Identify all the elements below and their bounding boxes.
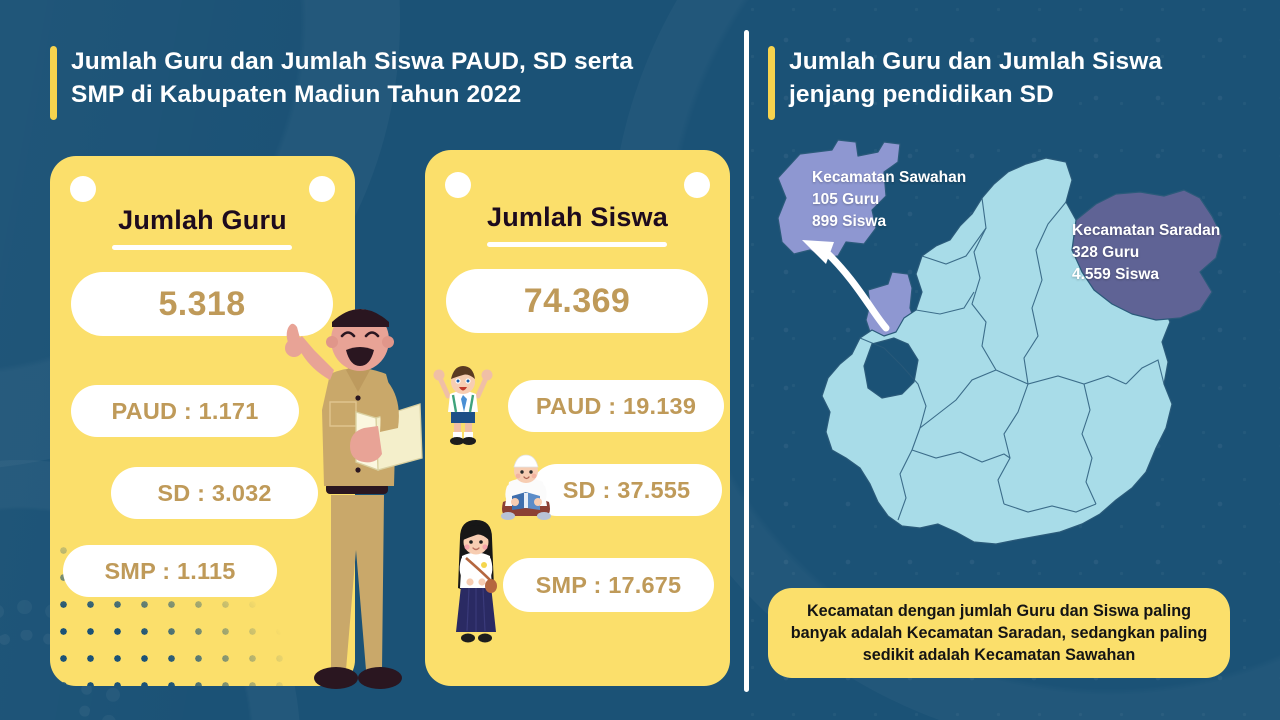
section-divider [744, 30, 749, 692]
siswa-smp-pill: SMP : 17.675 [503, 558, 714, 612]
card-title-jumlah-guru: Jumlah Guru [50, 205, 355, 236]
right-section-heading: Jumlah Guru dan Jumlah Siswa jenjang pen… [768, 46, 1162, 120]
summary-note-text: Kecamatan dengan jumlah Guru dan Siswa p… [784, 600, 1214, 666]
right-heading-text: Jumlah Guru dan Jumlah Siswa jenjang pen… [789, 46, 1162, 112]
infographic-canvas: Jumlah Guru dan Jumlah Siswa PAUD, SD se… [0, 0, 1280, 720]
card-pin-left [445, 172, 471, 198]
heading-accent-bar [768, 46, 775, 120]
guru-paud-pill: PAUD : 1.171 [71, 385, 299, 437]
stat-card-jumlah-siswa: Jumlah Siswa 74.369 PAUD : 19.139 SD : 3… [425, 150, 730, 686]
summary-note-card: Kecamatan dengan jumlah Guru dan Siswa p… [768, 588, 1230, 678]
stat-card-jumlah-guru: Jumlah Guru 5.318 PAUD : 1.171 SD : 3.03… [50, 156, 355, 686]
card-pin-right [684, 172, 710, 198]
total-guru-pill: 5.318 [71, 272, 333, 336]
card-title-rule [112, 245, 292, 250]
guru-sd-pill: SD : 3.032 [111, 467, 318, 519]
card-title-rule [487, 242, 667, 247]
siswa-paud-pill: PAUD : 19.139 [508, 380, 724, 432]
map-kabupaten-madiun: Kecamatan Sawahan 105 Guru 899 Siswa Kec… [760, 132, 1270, 572]
card-title-jumlah-siswa: Jumlah Siswa [425, 202, 730, 233]
card-pin-right [309, 176, 335, 202]
guru-smp-pill: SMP : 1.115 [63, 545, 277, 597]
map-label-saradan: Kecamatan Saradan 328 Guru 4.559 Siswa [1072, 220, 1220, 286]
card-pin-left [70, 176, 96, 202]
heading-accent-bar [50, 46, 57, 120]
total-siswa-pill: 74.369 [446, 269, 708, 333]
siswa-sd-pill: SD : 37.555 [531, 464, 722, 516]
left-section-heading: Jumlah Guru dan Jumlah Siswa PAUD, SD se… [50, 46, 633, 120]
left-heading-text: Jumlah Guru dan Jumlah Siswa PAUD, SD se… [71, 46, 633, 112]
map-label-sawahan: Kecamatan Sawahan 105 Guru 899 Siswa [812, 167, 966, 233]
